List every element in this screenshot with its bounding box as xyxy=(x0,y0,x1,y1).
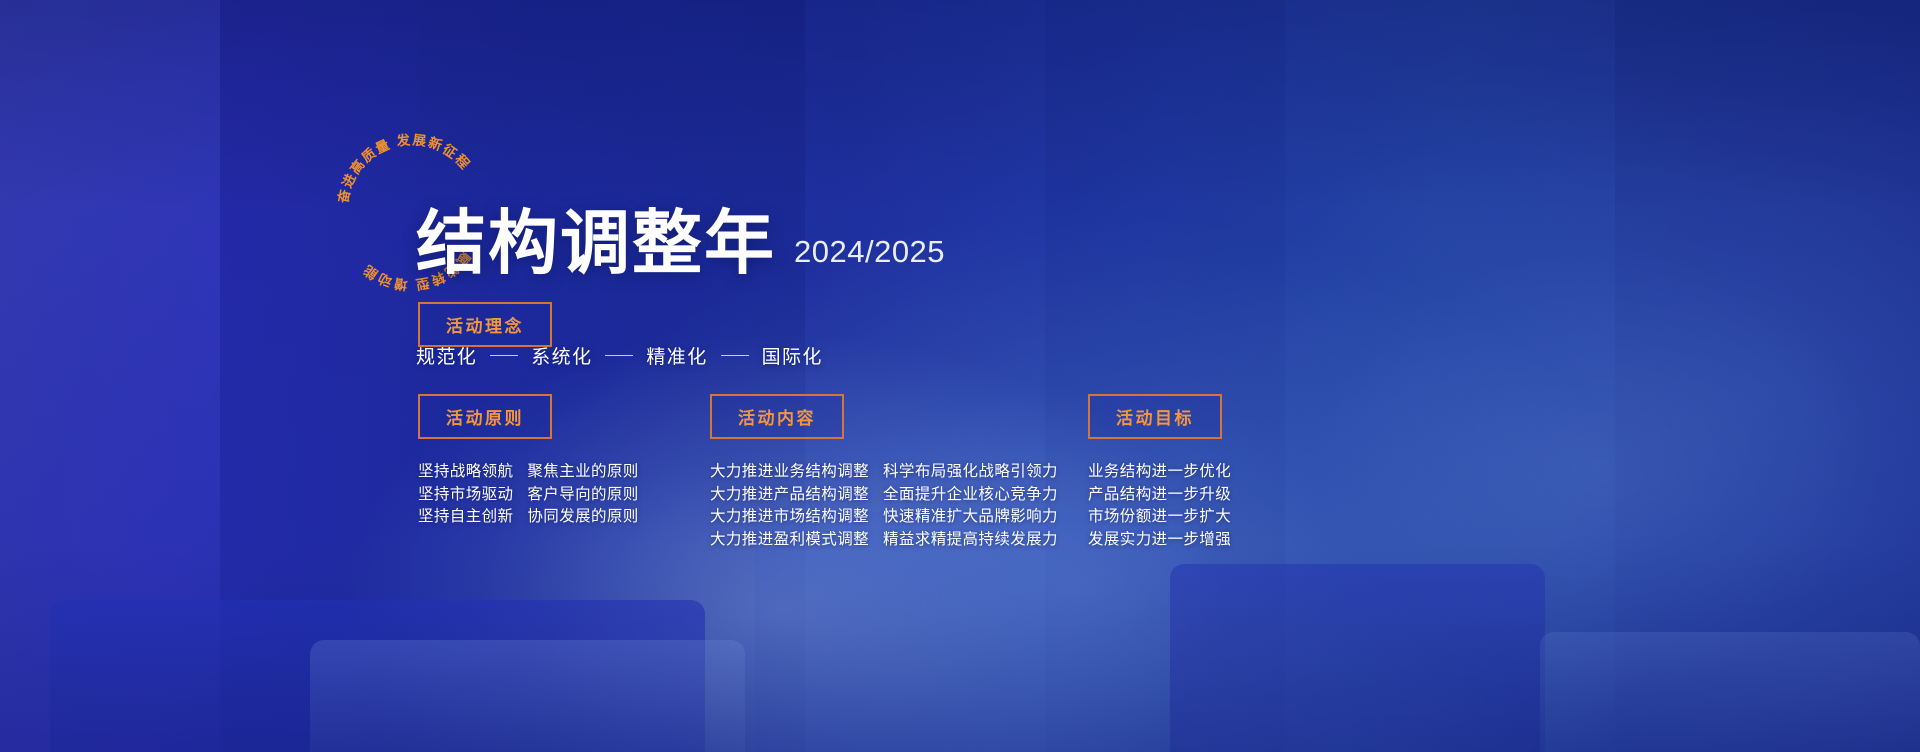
list-item-part1: 市场份额进一步扩大 xyxy=(1088,506,1231,529)
idea-keyword: 国际化 xyxy=(762,342,823,369)
column-activity-goals: 活动目标 业务结构进一步优化 产品结构进一步升级 市场份额进一步扩大 发展实力进… xyxy=(1088,394,1231,551)
idea-keyword: 系统化 xyxy=(531,342,592,369)
page-title: 结构调整年 xyxy=(416,208,776,278)
list-item-part2: 客户导向的原则 xyxy=(527,484,638,507)
badge-activity-principles[interactable]: 活动原则 xyxy=(418,394,552,439)
list-item-part2: 聚焦主业的原则 xyxy=(527,461,638,484)
list-item: 大力推进市场结构调整 快速精准扩大品牌影响力 xyxy=(710,506,1058,529)
list-item-part1: 大力推进产品结构调整 xyxy=(710,484,869,507)
ring-text-top: 奋进高质量 发展新征程 xyxy=(334,131,473,205)
idea-keyword: 规范化 xyxy=(416,342,477,369)
list-item-part1: 业务结构进一步优化 xyxy=(1088,461,1231,484)
list-item-part1: 大力推进盈利模式调整 xyxy=(710,529,869,552)
list-item: 市场份额进一步扩大 xyxy=(1088,506,1231,529)
list-item-part2: 科学布局强化战略引领力 xyxy=(883,461,1058,484)
separator-dash-icon xyxy=(605,355,633,357)
list-item: 大力推进盈利模式调整 精益求精提高持续发展力 xyxy=(710,529,1058,552)
promo-banner: 奋进高质量 发展新征程 赋能转型 增动能 结构调整年 2024/2025 活动理… xyxy=(0,0,1920,752)
ring-textpath-top: 奋进高质量 发展新征程 xyxy=(334,131,473,205)
list-item-part1: 坚持自主创新 xyxy=(418,506,513,529)
column-body: 坚持战略领航 聚焦主业的原则 坚持市场驱动 客户导向的原则 坚持自主创新 协同发… xyxy=(418,461,639,529)
list-item: 业务结构进一步优化 xyxy=(1088,461,1231,484)
list-item-part1: 产品结构进一步升级 xyxy=(1088,484,1231,507)
column-body: 业务结构进一步优化 产品结构进一步升级 市场份额进一步扩大 发展实力进一步增强 xyxy=(1088,461,1231,551)
list-item-part1: 大力推进市场结构调整 xyxy=(710,506,869,529)
badge-activity-content[interactable]: 活动内容 xyxy=(710,394,844,439)
list-item: 坚持战略领航 聚焦主业的原则 xyxy=(418,461,639,484)
list-item-part2: 全面提升企业核心竞争力 xyxy=(883,484,1058,507)
list-item: 大力推进业务结构调整 科学布局强化战略引领力 xyxy=(710,461,1058,484)
list-item-part2: 精益求精提高持续发展力 xyxy=(883,529,1058,552)
building-block xyxy=(310,640,745,752)
column-activity-principles: 活动原则 坚持战略领航 聚焦主业的原则 坚持市场驱动 客户导向的原则 坚持自主创… xyxy=(418,394,639,529)
badge-activity-goals[interactable]: 活动目标 xyxy=(1088,394,1222,439)
list-item-part1: 大力推进业务结构调整 xyxy=(710,461,869,484)
list-item: 发展实力进一步增强 xyxy=(1088,529,1231,552)
list-item: 产品结构进一步升级 xyxy=(1088,484,1231,507)
building-block xyxy=(1170,564,1545,752)
list-item: 坚持市场驱动 客户导向的原则 xyxy=(418,484,639,507)
list-item-part2: 协同发展的原则 xyxy=(527,506,638,529)
list-item-part1: 坚持市场驱动 xyxy=(418,484,513,507)
column-activity-content: 活动内容 大力推进业务结构调整 科学布局强化战略引领力 大力推进产品结构调整 全… xyxy=(710,394,1058,551)
separator-dash-icon xyxy=(721,355,749,357)
list-item-part1: 坚持战略领航 xyxy=(418,461,513,484)
list-item-part1: 发展实力进一步增强 xyxy=(1088,529,1231,552)
idea-keyword-line: 规范化 系统化 精准化 国际化 xyxy=(416,342,823,369)
badge-activity-idea[interactable]: 活动理念 xyxy=(418,302,552,347)
year-range: 2024/2025 xyxy=(794,234,945,278)
list-item: 坚持自主创新 协同发展的原则 xyxy=(418,506,639,529)
idea-keyword: 精准化 xyxy=(646,342,707,369)
list-item-part2: 快速精准扩大品牌影响力 xyxy=(883,506,1058,529)
building-block xyxy=(1540,632,1920,752)
list-item: 大力推进产品结构调整 全面提升企业核心竞争力 xyxy=(710,484,1058,507)
column-body: 大力推进业务结构调整 科学布局强化战略引领力 大力推进产品结构调整 全面提升企业… xyxy=(710,461,1058,551)
separator-dash-icon xyxy=(490,355,518,357)
title-row: 结构调整年 2024/2025 xyxy=(416,208,945,278)
